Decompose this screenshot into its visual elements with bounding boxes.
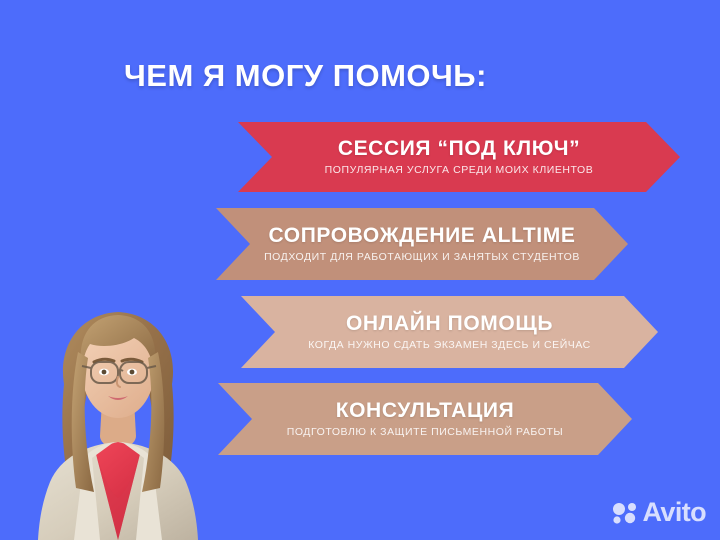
portrait-illustration — [26, 292, 210, 540]
service-ribbon-session-turnkey[interactable]: СЕССИЯ “ПОД КЛЮЧ” ПОПУЛЯРНАЯ УСЛУГА СРЕД… — [238, 122, 680, 192]
pupil-right — [130, 370, 135, 375]
service-title: ОНЛАЙН ПОМОЩЬ — [346, 313, 553, 335]
service-subtitle: ПОПУЛЯРНАЯ УСЛУГА СРЕДИ МОИХ КЛИЕНТОВ — [325, 164, 594, 176]
pupil-left — [102, 370, 107, 375]
service-ribbon-online-help[interactable]: ОНЛАЙН ПОМОЩЬ КОГДА НУЖНО СДАТЬ ЭКЗАМЕН … — [241, 296, 658, 368]
service-subtitle: ПОДГОТОВЛЮ К ЗАЩИТЕ ПИСЬМЕННОЙ РАБОТЫ — [287, 426, 564, 438]
service-ribbon-consultation[interactable]: КОНСУЛЬТАЦИЯ ПОДГОТОВЛЮ К ЗАЩИТЕ ПИСЬМЕН… — [218, 383, 632, 455]
avito-watermark: Avito — [612, 499, 707, 526]
service-ribbon-alltime-support[interactable]: СОПРОВОЖДЕНИЕ ALLTIME ПОДХОДИТ ДЛЯ РАБОТ… — [216, 208, 628, 280]
poster-canvas: ЧЕМ Я МОГУ ПОМОЧЬ: СЕССИЯ “ПОД КЛЮЧ” ПОП… — [0, 0, 720, 540]
avito-dots-icon — [612, 502, 638, 524]
service-title: СОПРОВОЖДЕНИЕ ALLTIME — [269, 225, 576, 247]
service-title: КОНСУЛЬТАЦИЯ — [336, 400, 515, 422]
service-subtitle: КОГДА НУЖНО СДАТЬ ЭКЗАМЕН ЗДЕСЬ И СЕЙЧАС — [308, 339, 591, 351]
service-title: СЕССИЯ “ПОД КЛЮЧ” — [338, 138, 580, 160]
avito-brand-text: Avito — [643, 499, 707, 526]
service-subtitle: ПОДХОДИТ ДЛЯ РАБОТАЮЩИХ И ЗАНЯТЫХ СТУДЕН… — [264, 251, 580, 263]
page-title: ЧЕМ Я МОГУ ПОМОЧЬ: — [124, 58, 487, 94]
portrait-photo — [26, 292, 210, 540]
